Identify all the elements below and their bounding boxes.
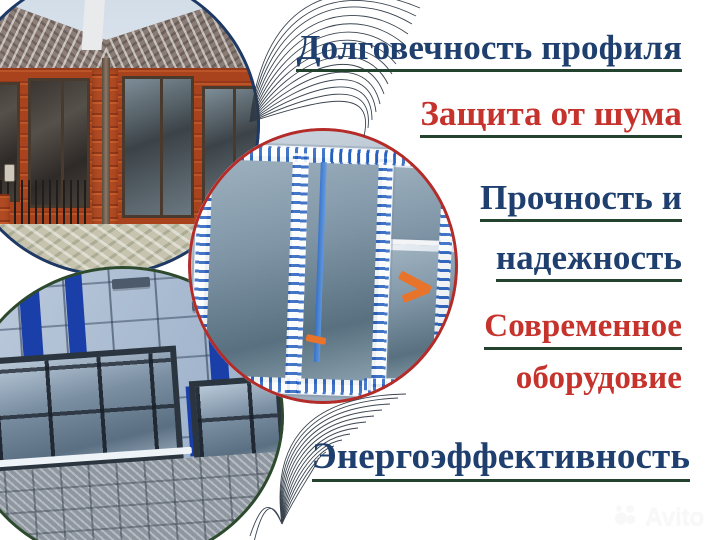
avito-watermark-label: Avito (645, 503, 704, 532)
tagline-noise-protection-text: Защита от шума (420, 96, 682, 131)
tagline-energy-efficiency-underline (312, 479, 690, 482)
tagline-noise-protection-underline (420, 135, 682, 138)
tagline-noise-protection: Защита от шума (420, 96, 682, 138)
tagline-modern-text: Современное (484, 310, 682, 343)
tagline-strength: Прочность и (480, 180, 682, 222)
tagline-energy-efficiency: Энергоэффективность (312, 438, 690, 482)
tagline-equipment: оборудовие (516, 362, 682, 395)
tagline-durability-underline (296, 69, 682, 72)
tagline-durability: Долговечность профиля (296, 30, 682, 72)
tagline-energy-efficiency-text: Энергоэффективность (312, 438, 690, 475)
tagline-reliability: надежность (496, 240, 682, 282)
tagline-modern: Современное (484, 310, 682, 350)
tagline-modern-underline (484, 347, 682, 350)
tagline-reliability-underline (496, 279, 682, 282)
tagline-equipment-text: оборудовие (516, 362, 682, 395)
taglines-block: Долговечность профиля Защита от шума Про… (250, 0, 700, 540)
tagline-reliability-text: надежность (496, 240, 682, 275)
avito-watermark: Avito (614, 503, 704, 532)
poster-canvas: Долговечность профиля Защита от шума Про… (0, 0, 720, 540)
tagline-strength-underline (480, 219, 682, 222)
tagline-durability-text: Долговечность профиля (296, 30, 682, 65)
avito-dots-logo-icon (614, 504, 640, 531)
tagline-strength-text: Прочность и (480, 180, 682, 215)
